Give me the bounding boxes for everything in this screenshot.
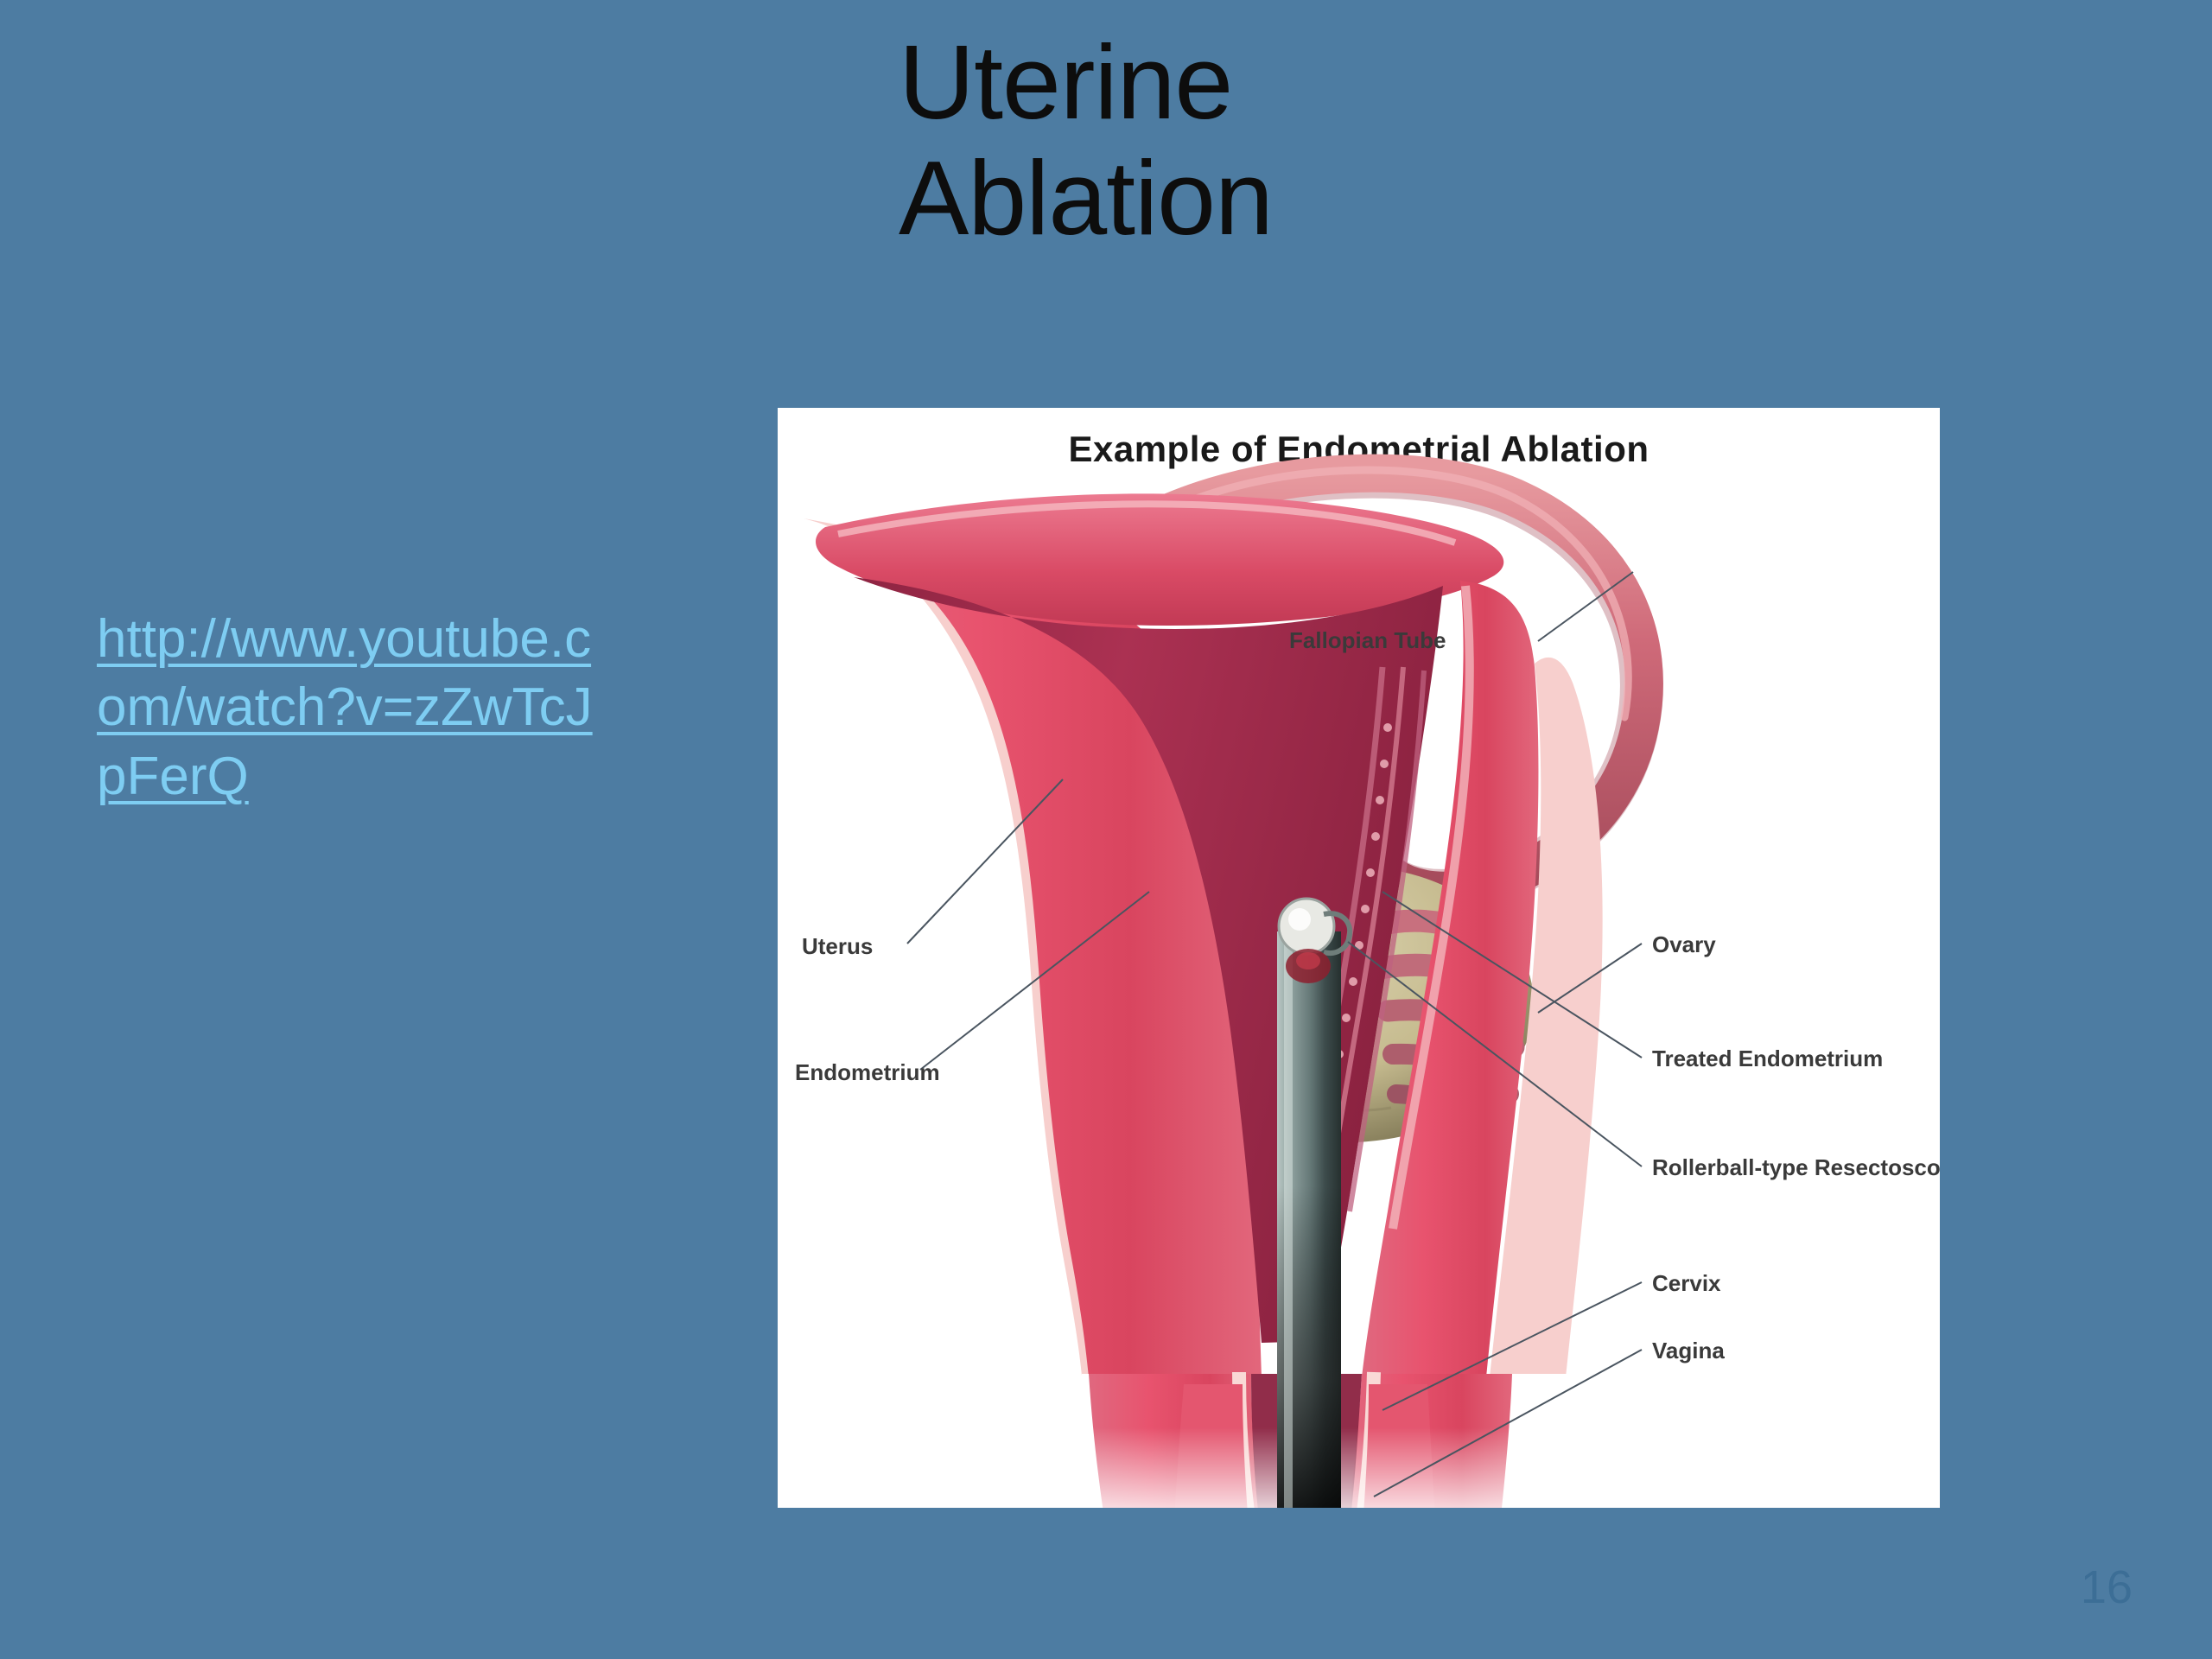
- page-title: Uterine Ablation: [899, 24, 1763, 256]
- label-ovary: Ovary: [1652, 931, 1716, 957]
- rollerball-resectoscope-graphic: [1277, 899, 1350, 1508]
- label-endometrium: Endometrium: [795, 1059, 940, 1085]
- label-fallopian-tube: Fallopian Tube: [1289, 627, 1446, 653]
- label-treated-endometrium: Treated Endometrium: [1652, 1046, 1883, 1071]
- label-cervix: Cervix: [1652, 1270, 1721, 1296]
- label-uterus: Uterus: [802, 933, 873, 959]
- youtube-link-block: http://www.youtube.com/watch?v=zZwTcJpFe…: [97, 605, 615, 810]
- youtube-hyperlink[interactable]: http://www.youtube.com/watch?v=zZwTcJpFe…: [97, 609, 593, 806]
- uterus-graphic: [804, 493, 1642, 1508]
- endometrial-ablation-figure: Example of Endometrial Ablation: [778, 408, 1940, 1508]
- slide-number: 16: [2081, 1560, 2133, 1614]
- presentation-slide: Uterine Ablation http://www.youtube.com/…: [0, 0, 2212, 1659]
- label-resectoscope: Rollerball-type Resectoscope: [1652, 1154, 1940, 1180]
- label-vagina: Vagina: [1652, 1338, 1725, 1363]
- uterus-anatomy-diagram: Uterus Endometrium Fallopian Tube Ovary …: [778, 408, 1940, 1508]
